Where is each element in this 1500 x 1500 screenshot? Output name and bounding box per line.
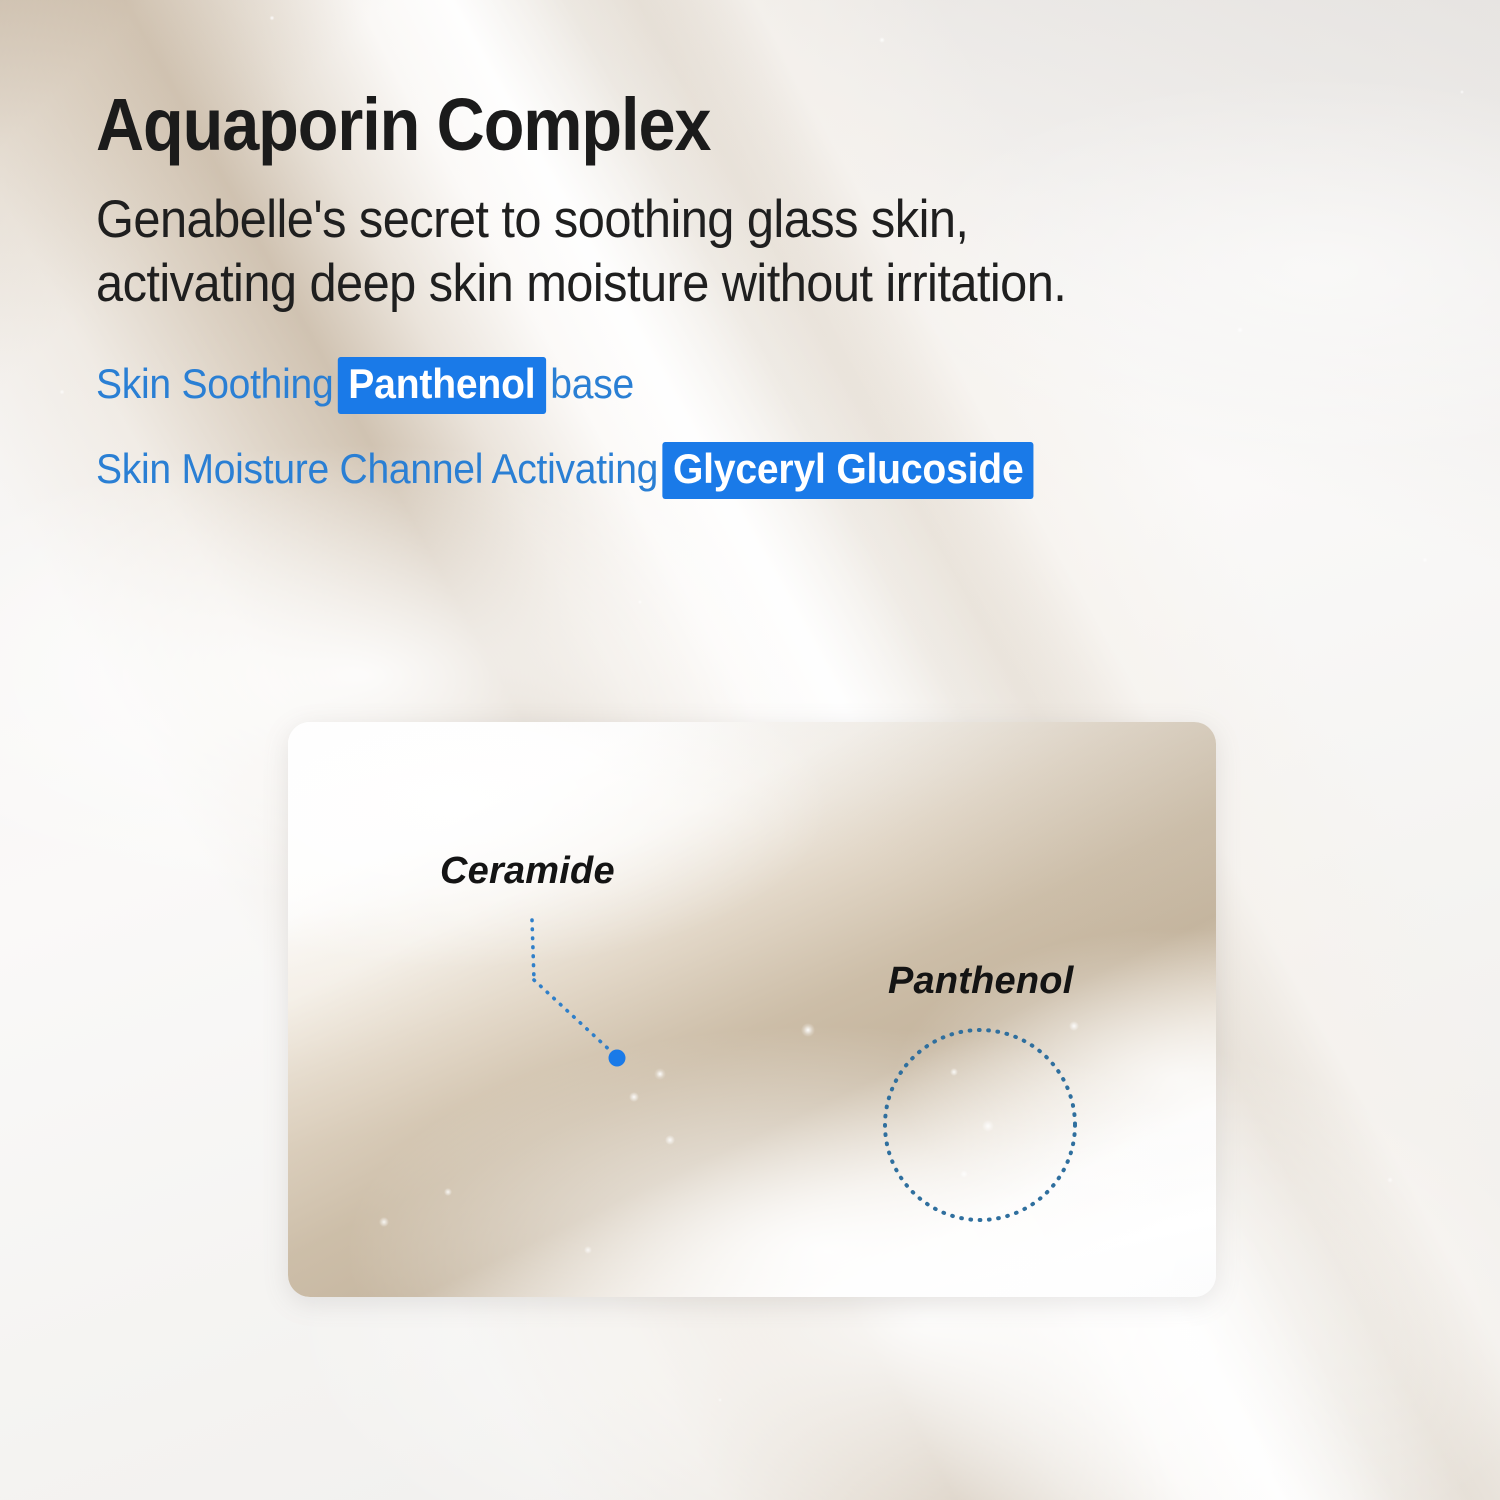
page-title: Aquaporin Complex <box>96 88 1302 162</box>
benefit-highlight-glyceryl-glucoside: Glyceryl Glucoside <box>663 442 1034 499</box>
benefit-item-panthenol: Skin SoothingPanthenolbase <box>96 357 1342 414</box>
headline-block: Aquaporin Complex Genabelle's secret to … <box>96 88 1436 527</box>
benefit-prefix: Skin Soothing <box>96 360 333 407</box>
benefit-item-glyceryl-glucoside: Skin Moisture Channel ActivatingGlyceryl… <box>96 442 1342 499</box>
card-annotation-overlay <box>288 722 1216 1297</box>
panthenol-dotted-circle-icon <box>885 1030 1075 1220</box>
page-subtitle: Genabelle's secret to soothing glass ski… <box>96 188 1329 315</box>
benefit-list: Skin SoothingPanthenolbase Skin Moisture… <box>96 357 1342 499</box>
card-label-ceramide: Ceramide <box>440 850 615 893</box>
ingredient-photo-card: Ceramide Panthenol <box>288 722 1216 1297</box>
ceramide-pointer-icon <box>532 920 626 1067</box>
benefit-suffix: base <box>550 360 634 407</box>
promo-graphic: Aquaporin Complex Genabelle's secret to … <box>0 0 1500 1500</box>
benefit-prefix: Skin Moisture Channel Activating <box>96 445 658 492</box>
card-label-panthenol: Panthenol <box>888 960 1073 1003</box>
benefit-highlight-panthenol: Panthenol <box>338 357 546 414</box>
subtitle-line-2: activating deep skin moisture without ir… <box>96 252 1329 316</box>
subtitle-line-1: Genabelle's secret to soothing glass ski… <box>96 188 1329 252</box>
ceramide-marker-dot <box>609 1050 626 1067</box>
